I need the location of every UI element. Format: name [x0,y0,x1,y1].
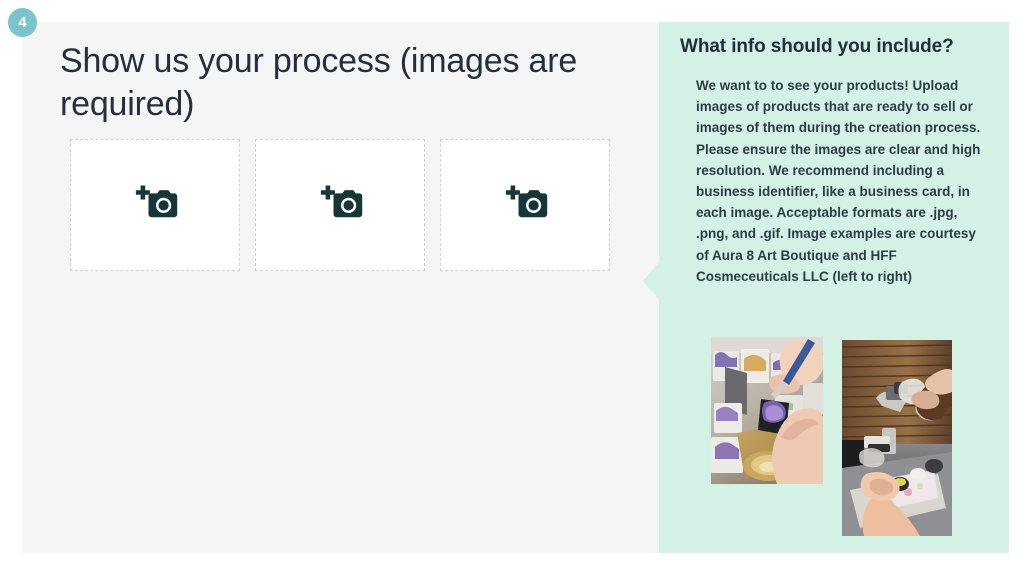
add-photo-icon [502,185,548,225]
upload-box-row [70,139,610,271]
image-upload-dropzone-2[interactable] [255,139,425,271]
image-upload-dropzone-1[interactable] [70,139,240,271]
step-number-badge: 4 [8,8,37,37]
example-photo-crafting-crystals [711,337,823,484]
add-photo-icon [317,185,363,225]
info-panel-body-text: We want to to see your products! Upload … [696,75,984,287]
upload-section-card: Show us your process (images are require… [22,22,661,553]
example-photo-workbench-blinds [842,340,952,536]
info-panel-heading: What info should you include? [680,36,1000,58]
image-upload-dropzone-3[interactable] [440,139,610,271]
add-photo-icon [132,185,178,225]
page-title: Show us your process (images are require… [60,40,645,126]
